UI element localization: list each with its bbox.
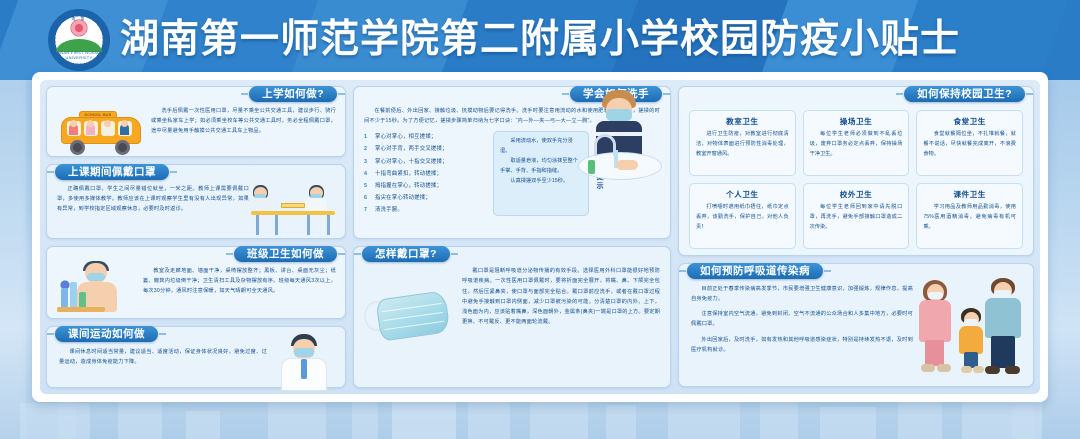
section-campus-hygiene: 如何保持校园卫生? 教室卫生 进行卫生防疫，对教室进行彻底清洁，对物体表面进行预… [678, 86, 1034, 256]
surgical-mask-illustration [362, 283, 458, 351]
list-item: 7清洗手腕。 [364, 204, 486, 216]
section-heading-class-hygiene: 班级卫生如何做 [234, 246, 337, 262]
section-heading-going-to-school: 上学如何做? [249, 86, 337, 102]
list-item: 5拇指握在掌心，转动搓揉； [364, 180, 486, 192]
students-at-desks-illustration [247, 181, 339, 239]
section-heading-prevent-respiratory-disease: 如何预防呼吸道传染病 [687, 263, 823, 279]
section-heading-how-to-wear-mask: 怎样戴口罩? [362, 246, 450, 262]
family-walking-illustration [917, 272, 1029, 378]
left-column: 上学如何做? SCHOOL BUS 洗手后佩戴一次性医用口罩，尽量不乘坐公共交通… [46, 86, 346, 388]
poster-board: 上学如何做? SCHOOL BUS 洗手后佩戴一次性医用口罩，尽量不乘坐公共交通… [40, 80, 1040, 394]
middle-column: 学会如何洗手 在餐前便后、外出回家、接触垃圾、抚摸动物后要记得洗手。洗手时要注意… [353, 86, 671, 388]
header-banner: 湖 南 第 一 HUNAN FIRST NORMAL UNIVERSITY 湖南… [0, 0, 1080, 80]
hygiene-card-playground: 操场卫生 每位学生老师必须做到不乱丢垃圾，废弃口罩务必定点丢弃，保持操场干净卫生… [803, 110, 910, 176]
hygiene-card-off-campus: 校外卫生 每位学生老师回到家中请先脱口罩，再洗手，避免手部接触口罩造成二次传染。 [803, 183, 910, 249]
section-how-to-wear-mask: 怎样戴口罩? 戴口罩是阻断呼吸道分泌物传播的有效手段。选择医用外科口罩能很好地预… [353, 246, 671, 388]
badge-flower-icon [71, 20, 88, 37]
body-going-to-school: 洗手后佩戴一次性医用口罩，尽量不乘坐公共交通工具，建议步行、骑行或乘坐私家车上学… [151, 106, 336, 136]
school-bus-illustration: SCHOOL BUS [57, 103, 147, 157]
cleaning-student-illustration [55, 261, 141, 319]
hygiene-card-courseware: 课件卫生 学习用品及教师用品勤消毒，使用75%医用酒精消毒，避免病毒有机可乘。 [916, 183, 1023, 249]
section-going-to-school: 上学如何做? SCHOOL BUS 洗手后佩戴一次性医用口罩，尽量不乘坐公共交通… [46, 86, 346, 157]
body-class-hygiene: 教室及走廊地面、墙面干净，桌椅摆放整齐；黑板、讲台、桌面无灰尘；纸篓、簸箕内垃圾… [143, 266, 336, 296]
list-item: 6指尖在掌心转动搓揉； [364, 192, 486, 204]
section-class-hygiene: 班级卫生如何做 教室及走廊地面、墙面干净，桌椅摆放整齐；黑板、讲台、桌面无灰尘；… [46, 246, 346, 319]
campus-hygiene-grid: 教室卫生 进行卫生防疫，对教室进行彻底清洁，对物体表面进行预防性消毒处理，教室开… [689, 110, 1023, 249]
body-prevent-respiratory-disease: 目前正处于春季传染病高发季节，市民要增强卫生健康意识，加强锻炼，规律作息，提高自… [691, 284, 913, 355]
school-badge-logo: 湖 南 第 一 HUNAN FIRST NORMAL UNIVERSITY [48, 9, 110, 71]
section-heading-recess-exercise: 课间运动如何做 [55, 326, 158, 342]
body-how-to-wear-mask: 戴口罩是阻断呼吸道分泌物传播的有效手段。选择医用外科口罩能很好地预防呼吸道疾病。… [462, 266, 660, 327]
hygiene-card-personal: 个人卫生 打喷嚏时遮用纸巾捂住，纸巾定点丢弃，该勤洗手，保护自己，对他人负责！ [689, 183, 796, 249]
hygiene-card-canteen: 食堂卫生 食堂就餐隔位坐，不扎堆就餐，就餐不说话，尽快就餐完成离开，不浪费食物。 [916, 110, 1023, 176]
list-item: 1掌心对掌心，相互搓揉； [364, 131, 486, 143]
page-title: 湖南第一师范学院第二附属小学校园防疫小贴士 [120, 0, 960, 80]
body-recess-exercise: 课间休息时间适当常量，建议适当、适度活动，保证身体状况良好，避免过度、过量运动，… [59, 347, 267, 367]
section-recess-exercise: 课间运动如何做 课间休息时间适当常量，建议适当、适度活动，保证身体状况良好，避免… [46, 326, 346, 388]
section-mask-in-class: 上课期间佩戴口罩 正确佩戴口罩，学生之间尽量错位就坐，一米之距。教师上课需要佩戴… [46, 164, 346, 239]
list-item: 2掌心对手背，两手交叉搓揉； [364, 143, 486, 155]
section-heading-campus-hygiene: 如何保持校园卫生? [904, 86, 1025, 102]
list-item: 4十指弯曲紧扣，转动搓揉； [364, 168, 486, 180]
handwashing-sink-illustration [572, 90, 664, 188]
poster-frame: 上学如何做? SCHOOL BUS 洗手后佩戴一次性医用口罩，尽量不乘坐公共交通… [32, 72, 1048, 402]
badge-lower-text: HUNAN FIRST NORMAL UNIVERSITY [49, 50, 109, 60]
body-mask-in-class: 正确佩戴口罩，学生之间尽量错位就坐，一米之距。教师上课需要佩戴口罩，多使用多媒体… [57, 184, 249, 214]
list-item: 3掌心对掌心，十指交叉搓揉； [364, 156, 486, 168]
section-prevent-respiratory-disease: 如何预防呼吸道传染病 [678, 263, 1034, 387]
doctor-illustration [267, 333, 341, 391]
hygiene-card-classroom: 教室卫生 进行卫生防疫，对教室进行彻底清洁，对物体表面进行预防性消毒处理，教室开… [689, 110, 796, 176]
section-how-to-wash-hands: 学会如何洗手 在餐前便后、外出回家、接触垃圾、抚摸动物后要记得洗手。洗手时要注意… [353, 86, 671, 239]
right-column: 如何保持校园卫生? 教室卫生 进行卫生防疫，对教室进行彻底清洁，对物体表面进行预… [678, 86, 1034, 388]
handwash-step-list: 1掌心对掌心，相互搓揉； 2掌心对手背，两手交叉搓揉； 3掌心对掌心，十指交叉搓… [364, 131, 486, 216]
section-heading-mask-in-class: 上课期间佩戴口罩 [55, 164, 169, 180]
